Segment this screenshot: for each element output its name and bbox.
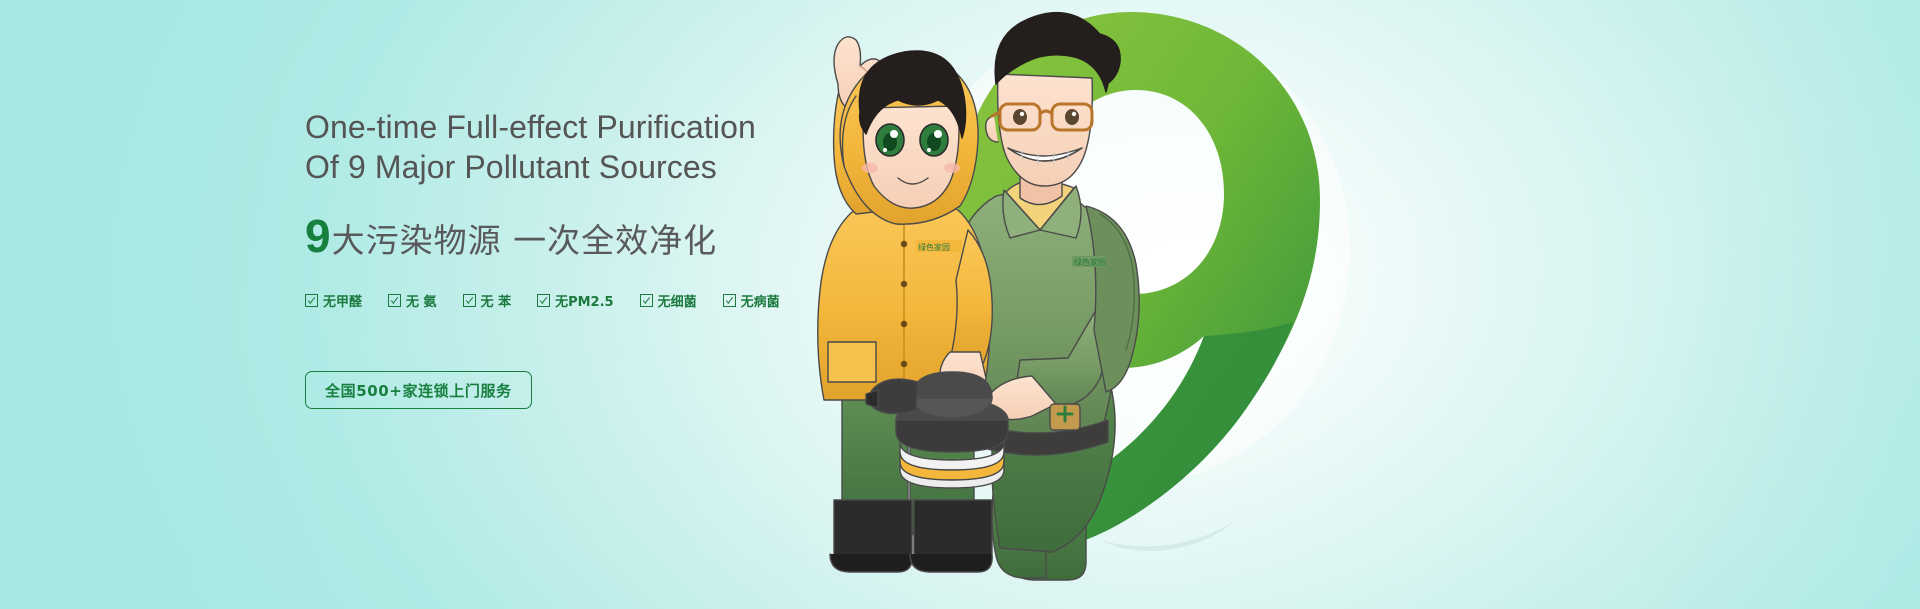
feature-label: 无细菌 — [658, 291, 697, 310]
nationwide-service-button[interactable]: 全国500+家连锁上门服务 — [305, 371, 532, 409]
headline-chinese-text: 大污染物源 一次全效净化 — [332, 221, 718, 261]
feature-item: 无病菌 — [723, 291, 780, 310]
checkbox-checked-icon — [640, 294, 653, 307]
headline-number: 9 — [305, 213, 331, 259]
feature-label: 无PM2.5 — [555, 291, 614, 310]
feature-item: 无 氨 — [388, 291, 437, 310]
headline-english: One-time Full-effect Purification Of 9 M… — [305, 107, 1025, 187]
checkbox-checked-icon — [463, 294, 476, 307]
checkbox-checked-icon — [388, 294, 401, 307]
checkbox-checked-icon — [537, 294, 550, 307]
feature-item: 无PM2.5 — [537, 291, 614, 310]
checkbox-checked-icon — [723, 294, 736, 307]
adult-badge-text: 绿色家园 — [1074, 257, 1106, 267]
feature-label: 无 苯 — [481, 291, 512, 310]
feature-item: 无细菌 — [640, 291, 697, 310]
promo-banner: 绿色家园 — [0, 0, 1920, 609]
feature-label: 无 氨 — [406, 291, 437, 310]
checkbox-checked-icon — [305, 294, 318, 307]
headline-chinese: 9 大污染物源 一次全效净化 — [305, 213, 1025, 261]
feature-label: 无甲醛 — [323, 291, 362, 310]
feature-label: 无病菌 — [741, 291, 780, 310]
feature-item: 无甲醛 — [305, 291, 362, 310]
feature-item: 无 苯 — [463, 291, 512, 310]
banner-copy: One-time Full-effect Purification Of 9 M… — [305, 86, 1025, 409]
feature-list: 无甲醛 无 氨 无 苯 无PM2.5 无细菌 无病菌 — [305, 291, 1025, 310]
